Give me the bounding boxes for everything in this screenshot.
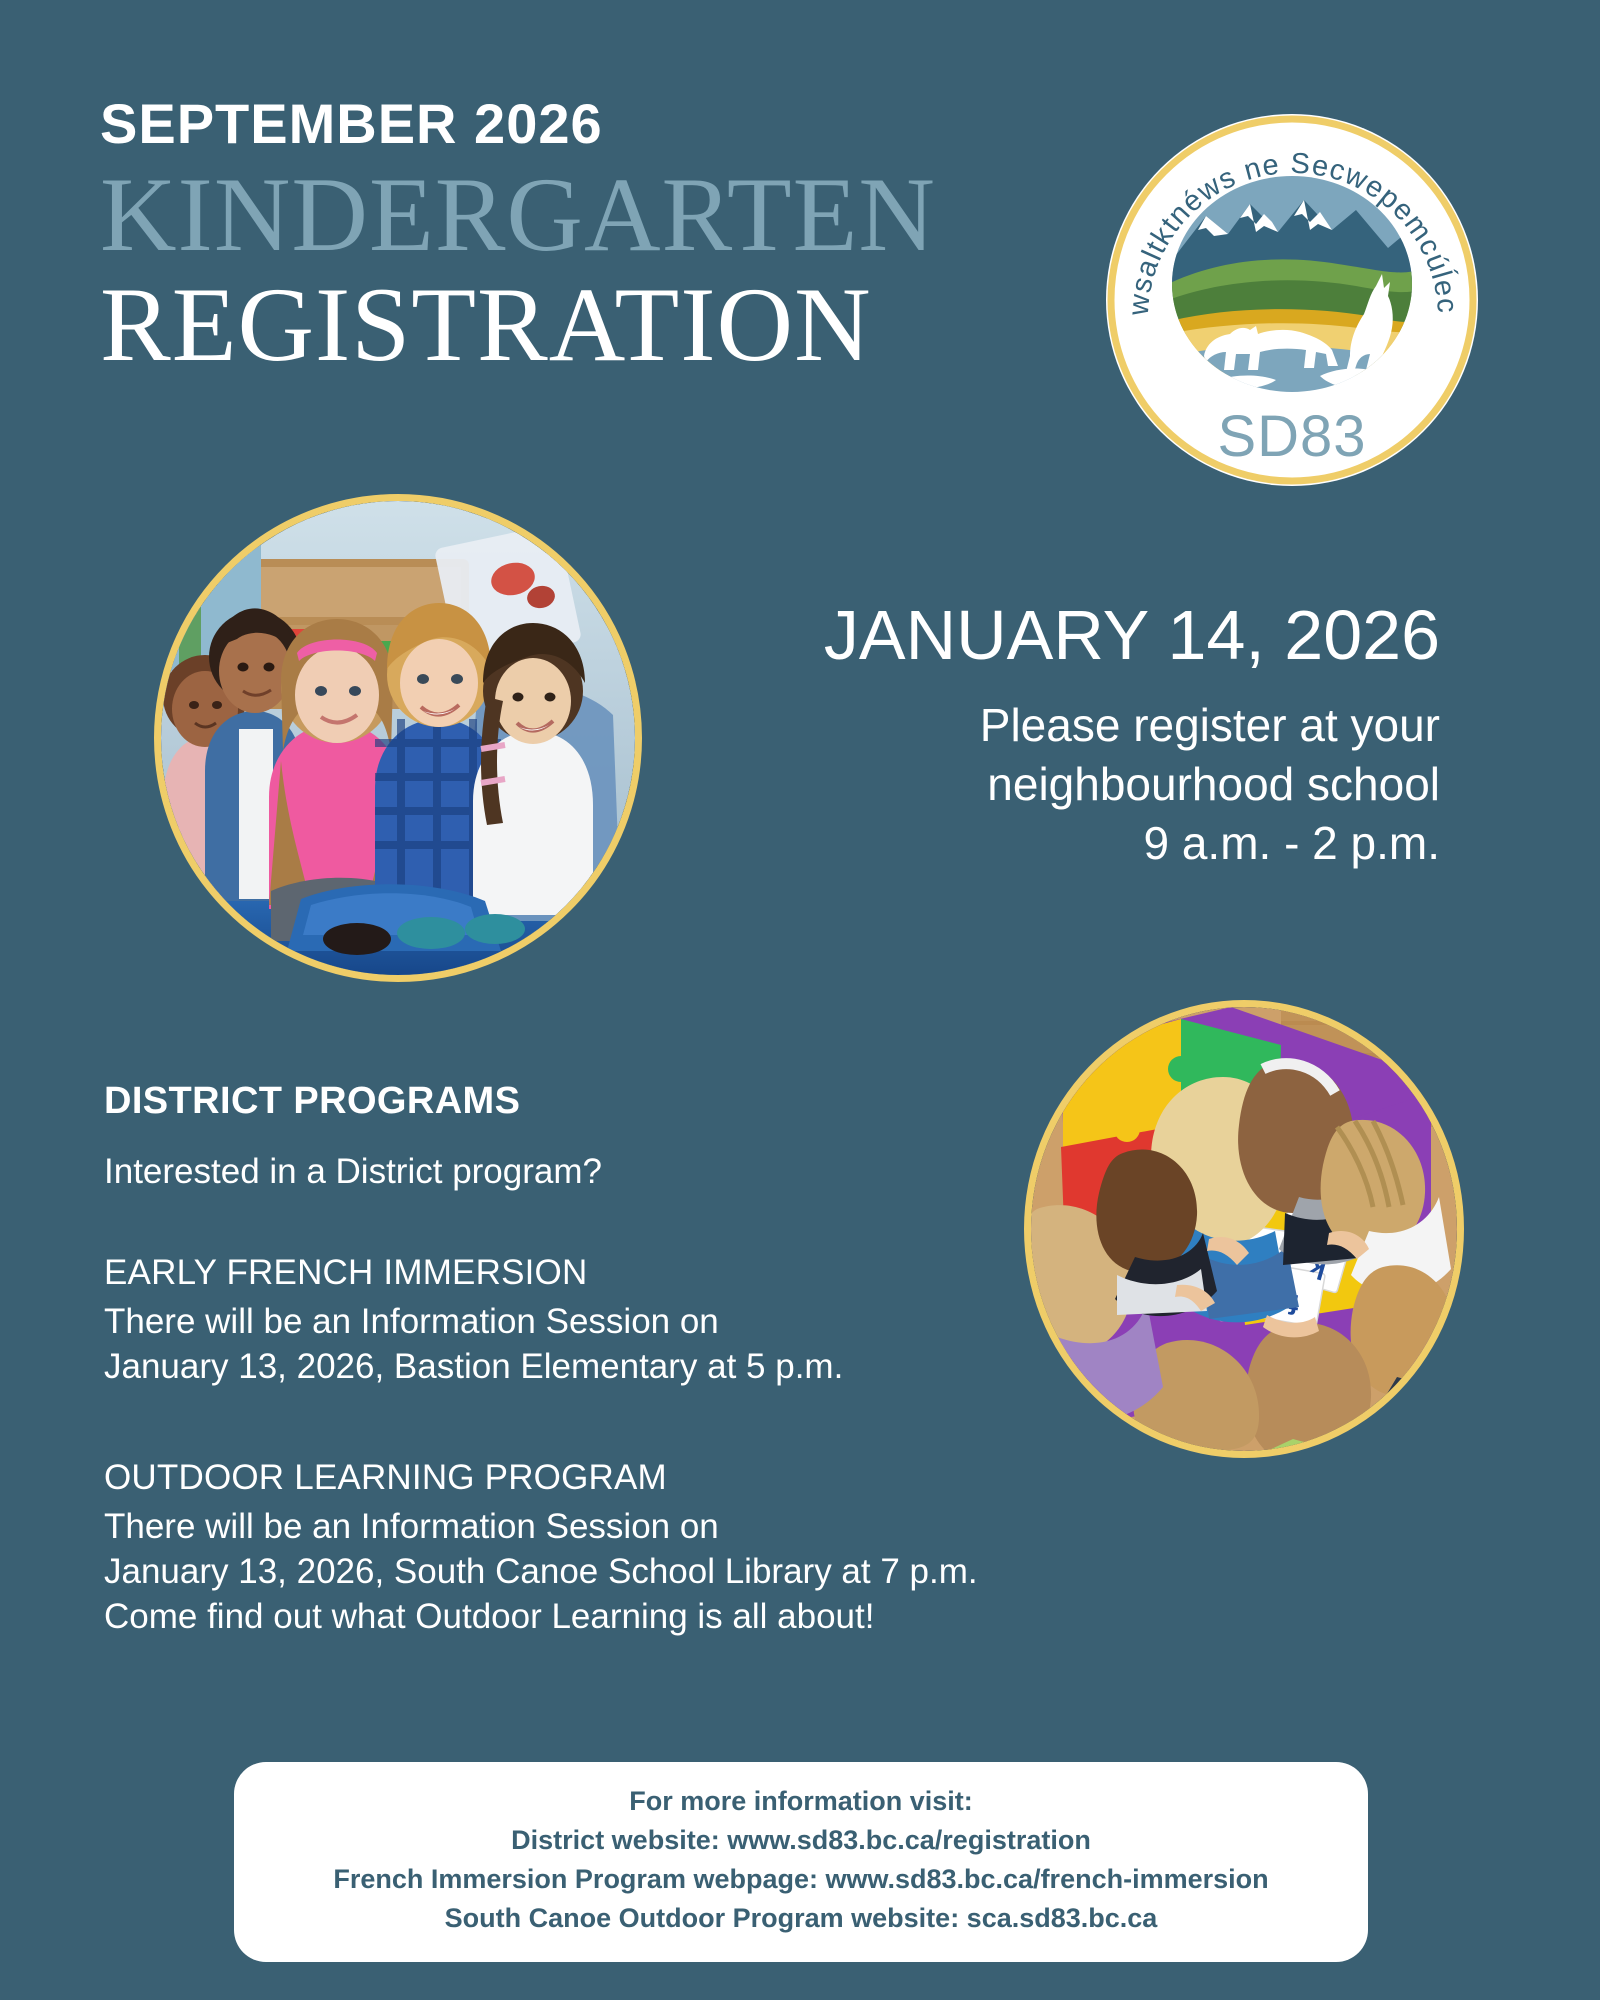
- photo-children-letter-puzzle: r s m p k b f: [1024, 1000, 1464, 1458]
- registration-hours: 9 a.m. - 2 p.m.: [700, 814, 1440, 873]
- puzzle-photo-image: r s m p k b f: [1031, 1007, 1457, 1451]
- poster-header: SEPTEMBER 2026 KINDERGARTEN REGISTRATION: [100, 96, 1060, 382]
- registration-date-block: JANUARY 14, 2026 Please register at your…: [700, 600, 1440, 873]
- program-line-french-1: There will be an Information Session on: [104, 1300, 1084, 1345]
- program-line-french-2: January 13, 2026, Bastion Elementary at …: [104, 1345, 1084, 1390]
- register-instruction-line-2: neighbourhood school: [700, 755, 1440, 814]
- register-instruction-line-1: Please register at your: [700, 696, 1440, 755]
- sd83-logo: Ḱwsaltktnéws ne Secwepemcúĺecw SD83: [1088, 108, 1496, 492]
- district-programs-section: DISTRICT PROGRAMS Interested in a Distri…: [104, 1082, 1084, 1640]
- info-line-header: For more information visit:: [629, 1782, 973, 1821]
- program-line-outdoor-1: There will be an Information Session on: [104, 1505, 1084, 1550]
- info-line-south-canoe-website[interactable]: South Canoe Outdoor Program website: sca…: [445, 1899, 1158, 1938]
- program-line-outdoor-2: January 13, 2026, South Canoe School Lib…: [104, 1550, 1084, 1595]
- program-outdoor-learning: OUTDOOR LEARNING PROGRAM There will be a…: [104, 1456, 1084, 1640]
- kindergarten-registration-poster: SEPTEMBER 2026 KINDERGARTEN REGISTRATION: [0, 0, 1600, 2000]
- kindergarten-wordmark: KINDERGARTEN: [100, 162, 1060, 268]
- registration-wordmark: REGISTRATION: [100, 268, 1060, 382]
- logo-sd83-text: SD83: [1217, 404, 1366, 469]
- classroom-photo-image: [161, 501, 635, 975]
- month-year-heading: SEPTEMBER 2026: [100, 96, 1060, 152]
- registration-date: JANUARY 14, 2026: [700, 600, 1440, 670]
- program-line-outdoor-3: Come find out what Outdoor Learning is a…: [104, 1595, 1084, 1640]
- info-line-district-website[interactable]: District website: www.sd83.bc.ca/registr…: [511, 1821, 1091, 1860]
- photo-children-sitting-classroom: [154, 494, 642, 982]
- program-title-french-immersion: EARLY FRENCH IMMERSION: [104, 1251, 1084, 1294]
- district-programs-intro: Interested in a District program?: [104, 1154, 1084, 1189]
- info-line-french-immersion-website[interactable]: French Immersion Program webpage: www.sd…: [333, 1860, 1268, 1899]
- more-information-box: For more information visit: District web…: [234, 1762, 1368, 1962]
- district-programs-heading: DISTRICT PROGRAMS: [104, 1082, 1084, 1120]
- program-early-french-immersion: EARLY FRENCH IMMERSION There will be an …: [104, 1251, 1084, 1390]
- program-title-outdoor-learning: OUTDOOR LEARNING PROGRAM: [104, 1456, 1084, 1499]
